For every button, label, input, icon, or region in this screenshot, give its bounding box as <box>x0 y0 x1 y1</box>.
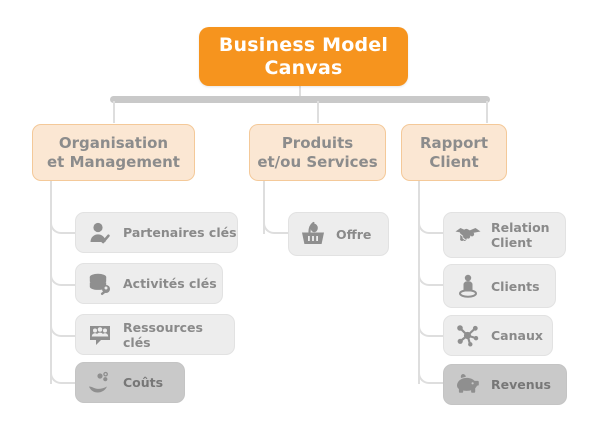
connector-elbow-relation <box>418 208 444 234</box>
node-category-produits[interactable]: Produits et/ou Services <box>249 124 386 181</box>
leaf-label: Coûts <box>123 375 163 390</box>
person-check-icon <box>86 219 114 247</box>
node-leaf-couts[interactable]: Coûts <box>75 362 185 403</box>
node-leaf-partenaires-cles[interactable]: Partenaires clés <box>75 212 238 253</box>
node-category-rapport[interactable]: Rapport Client <box>401 124 507 181</box>
connector-bus-to-produits <box>317 101 319 123</box>
node-leaf-ressources-cles[interactable]: Ressources clés <box>75 314 235 355</box>
handshake-icon <box>454 221 482 249</box>
leaf-label: Activités clés <box>123 276 217 291</box>
piggy-bank-icon <box>454 371 482 399</box>
node-leaf-canaux[interactable]: Canaux <box>443 315 553 356</box>
leaf-label: Canaux <box>491 328 543 343</box>
node-category-organisation[interactable]: Organisation et Management <box>32 124 195 181</box>
org-chart-diagram: Business Model Canvas Organisation et Ma… <box>0 0 600 444</box>
leaf-label: Ressources clés <box>123 320 234 350</box>
connector-elbow-revenus <box>418 358 444 384</box>
shopping-basket-icon <box>299 220 327 248</box>
connector-bus-to-organisation <box>113 101 115 123</box>
node-leaf-clients[interactable]: Clients <box>443 264 556 308</box>
hand-coins-icon <box>86 369 114 397</box>
connector-elbow-canaux <box>418 311 444 337</box>
connector-elbow-clients <box>418 260 444 286</box>
leaf-label: Clients <box>491 279 540 294</box>
leaf-label: Revenus <box>491 377 551 392</box>
person-pedestal-icon <box>454 272 482 300</box>
node-leaf-relation-client[interactable]: Relation Client <box>443 212 566 258</box>
node-root[interactable]: Business Model Canvas <box>199 27 408 86</box>
node-leaf-activites-cles[interactable]: Activités clés <box>75 263 223 304</box>
database-wrench-icon <box>86 270 114 298</box>
connector-bus <box>110 96 490 103</box>
network-nodes-icon <box>454 322 482 350</box>
leaf-label: Offre <box>336 227 371 242</box>
leaf-label: Partenaires clés <box>123 225 237 240</box>
people-bubble-icon <box>86 321 114 349</box>
connector-bus-to-rapport <box>486 101 488 123</box>
leaf-label: Relation Client <box>491 220 550 250</box>
node-leaf-revenus[interactable]: Revenus <box>443 364 567 405</box>
node-leaf-offre[interactable]: Offre <box>288 212 389 256</box>
